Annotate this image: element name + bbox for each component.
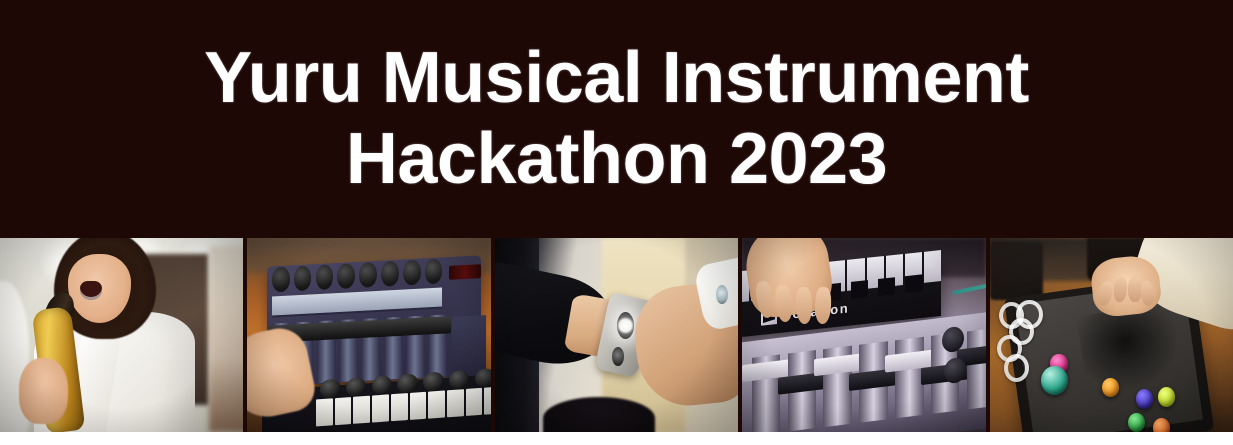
photo-strip: novation <box>0 238 1233 432</box>
photo-fader-controller <box>247 238 490 432</box>
rotary-knob <box>315 264 333 290</box>
keyboard-knob <box>398 373 419 394</box>
fader-slot <box>406 316 425 379</box>
finger <box>795 286 812 323</box>
black-key <box>905 274 922 293</box>
console-fader-slot <box>895 337 924 418</box>
rotary-knob <box>381 261 399 287</box>
keyboard-knob <box>346 377 367 398</box>
sensor-port <box>612 347 624 366</box>
keyboard-knob <box>449 369 470 390</box>
piano-key <box>316 398 333 426</box>
photo-2-canvas <box>247 238 490 432</box>
page-title-line-2: Hackathon 2023 <box>346 119 887 200</box>
console-fader-slot <box>788 350 817 431</box>
fader-slot <box>383 317 402 380</box>
piano-key <box>446 389 463 417</box>
piano-key <box>409 392 426 420</box>
foreground-shadow <box>543 397 655 432</box>
console-fader-slot <box>859 341 888 422</box>
page-title-line-1: Yuru Musical Instrument <box>204 38 1029 119</box>
photo-1-canvas <box>0 238 243 432</box>
keyboard-knob <box>475 368 491 389</box>
keyboard-knob <box>372 375 393 396</box>
piano-key <box>428 391 445 419</box>
white-key <box>925 250 942 283</box>
keyboard-knob <box>320 378 341 399</box>
marble-orange <box>1102 378 1119 397</box>
piano-key <box>390 393 407 421</box>
keyboard-knob <box>424 371 445 392</box>
photo-5-canvas <box>990 238 1233 432</box>
led-indicator <box>617 312 634 339</box>
white-ring <box>1004 354 1029 381</box>
piano-key <box>353 396 370 424</box>
rotary-knob <box>294 266 312 292</box>
fader-slot <box>339 320 358 383</box>
marble-teal <box>1041 366 1068 395</box>
piano-key <box>484 387 491 415</box>
event-banner: Yuru Musical Instrument Hackathon 2023 <box>0 0 1233 445</box>
fader-slot <box>316 321 335 384</box>
wall-panel-light <box>209 246 243 432</box>
marble-purple <box>1136 389 1153 408</box>
led-display <box>449 264 481 279</box>
photo-novation-keyboard: novation <box>742 238 985 432</box>
fader-slot <box>361 318 380 381</box>
piano-key <box>334 397 351 425</box>
console-fader-slot <box>824 345 853 426</box>
console-fader-slot <box>752 354 781 432</box>
fader-slot <box>428 315 447 378</box>
background-device <box>990 242 1044 300</box>
piano-key <box>465 388 482 416</box>
banner-title-block: Yuru Musical Instrument Hackathon 2023 <box>0 0 1233 238</box>
rotary-knob <box>425 259 443 285</box>
piano-key <box>372 395 389 423</box>
black-key <box>878 277 895 296</box>
photo-3-canvas <box>495 238 738 432</box>
rotary-knob <box>337 263 355 289</box>
photo-saxophone-player <box>0 238 243 432</box>
photo-wearable-band <box>495 238 738 432</box>
fader-cap <box>424 317 451 335</box>
rotary-knob <box>403 260 421 286</box>
hand-on-saxophone <box>19 358 68 424</box>
marble-yellow <box>1158 387 1175 406</box>
console-fader-slot <box>967 328 986 409</box>
rotary-knob <box>272 267 290 293</box>
photo-4-canvas: novation <box>742 238 985 432</box>
photo-marble-tray <box>990 238 1233 432</box>
rotary-knob <box>359 262 377 288</box>
marble-red-orange <box>1153 418 1170 432</box>
